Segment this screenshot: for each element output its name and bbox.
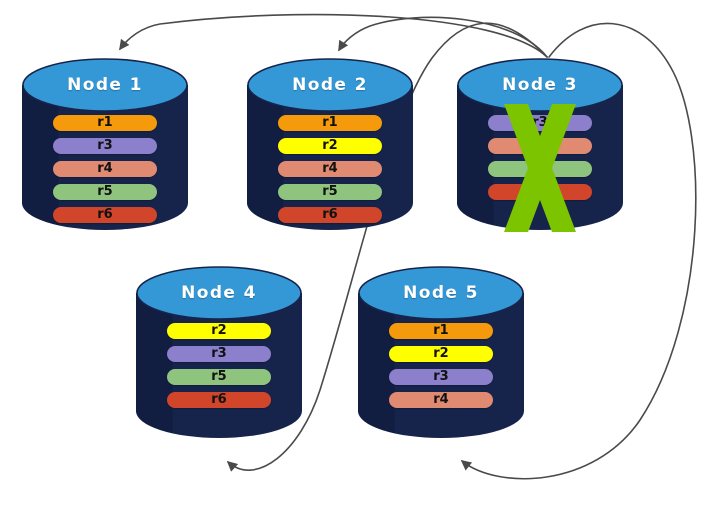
replica-bar-r1[interactable]: r1 (278, 115, 383, 131)
node-2-label: Node 2 (247, 75, 413, 95)
node-1-replica-list: r1r3r4r5r6 (22, 115, 188, 230)
node-4-replica-list: r2r3r5r6 (136, 323, 302, 415)
replica-bar-r1[interactable]: r1 (389, 323, 494, 339)
replica-label-r3: r3 (167, 346, 272, 362)
replica-label-r6: r6 (488, 184, 593, 200)
replica-bar-r3[interactable]: r3 (389, 369, 494, 385)
node-4[interactable]: Node 4r2r3r5r6 (136, 266, 302, 438)
node-3[interactable]: Node 3r3r4r5r6 (457, 58, 623, 230)
replica-label-r3: r3 (389, 369, 494, 385)
replica-bar-r4[interactable]: r4 (53, 161, 158, 177)
replica-label-r4: r4 (53, 161, 158, 177)
replica-label-r4: r4 (488, 138, 593, 154)
replica-label-r2: r2 (389, 346, 494, 362)
replica-bar-r3[interactable]: r3 (53, 138, 158, 154)
node-2-replica-list: r1r2r4r5r6 (247, 115, 413, 230)
replica-label-r1: r1 (389, 323, 494, 339)
replica-bar-r2[interactable]: r2 (167, 323, 272, 339)
replica-bar-r4[interactable]: r4 (278, 161, 383, 177)
node-4-label: Node 4 (136, 283, 302, 303)
replica-bar-r4[interactable]: r4 (488, 138, 593, 154)
replica-bar-r5[interactable]: r5 (53, 184, 158, 200)
replica-bar-r2[interactable]: r2 (389, 346, 494, 362)
replica-bar-r1[interactable]: r1 (53, 115, 158, 131)
replica-label-r6: r6 (53, 207, 158, 223)
node-1[interactable]: Node 1r1r3r4r5r6 (22, 58, 188, 230)
node-3-replica-list: r3r4r5r6 (457, 115, 623, 207)
node-3-label: Node 3 (457, 75, 623, 95)
replica-bar-r3[interactable]: r3 (488, 115, 593, 131)
node-5-label: Node 5 (358, 283, 524, 303)
replica-bar-r2[interactable]: r2 (278, 138, 383, 154)
replica-bar-r5[interactable]: r5 (488, 161, 593, 177)
replica-label-r6: r6 (167, 392, 272, 408)
replica-bar-r6[interactable]: r6 (488, 184, 593, 200)
diagram-canvas: Node 1r1r3r4r5r6Node 2r1r2r4r5r6Node 3r3… (0, 0, 708, 508)
replica-label-r5: r5 (278, 184, 383, 200)
node-5[interactable]: Node 5r1r2r3r4 (358, 266, 524, 438)
node-1-label: Node 1 (22, 75, 188, 95)
replica-bar-r3[interactable]: r3 (167, 346, 272, 362)
replica-bar-r6[interactable]: r6 (53, 207, 158, 223)
replica-label-r6: r6 (278, 207, 383, 223)
replica-bar-r6[interactable]: r6 (278, 207, 383, 223)
edge-node3-to-node1 (120, 15, 547, 57)
node-5-replica-list: r1r2r3r4 (358, 323, 524, 415)
replica-label-r3: r3 (488, 115, 593, 131)
replica-bar-r5[interactable]: r5 (167, 369, 272, 385)
replica-bar-r6[interactable]: r6 (167, 392, 272, 408)
replica-bar-r5[interactable]: r5 (278, 184, 383, 200)
replica-bar-r4[interactable]: r4 (389, 392, 494, 408)
replica-label-r2: r2 (278, 138, 383, 154)
edge-node3-to-node2 (339, 17, 547, 57)
replica-label-r5: r5 (488, 161, 593, 177)
replica-label-r5: r5 (53, 184, 158, 200)
replica-label-r2: r2 (167, 323, 272, 339)
replica-label-r3: r3 (53, 138, 158, 154)
replica-label-r1: r1 (53, 115, 158, 131)
replica-label-r4: r4 (278, 161, 383, 177)
node-2[interactable]: Node 2r1r2r4r5r6 (247, 58, 413, 230)
replica-label-r4: r4 (389, 392, 494, 408)
replica-label-r1: r1 (278, 115, 383, 131)
replica-label-r5: r5 (167, 369, 272, 385)
